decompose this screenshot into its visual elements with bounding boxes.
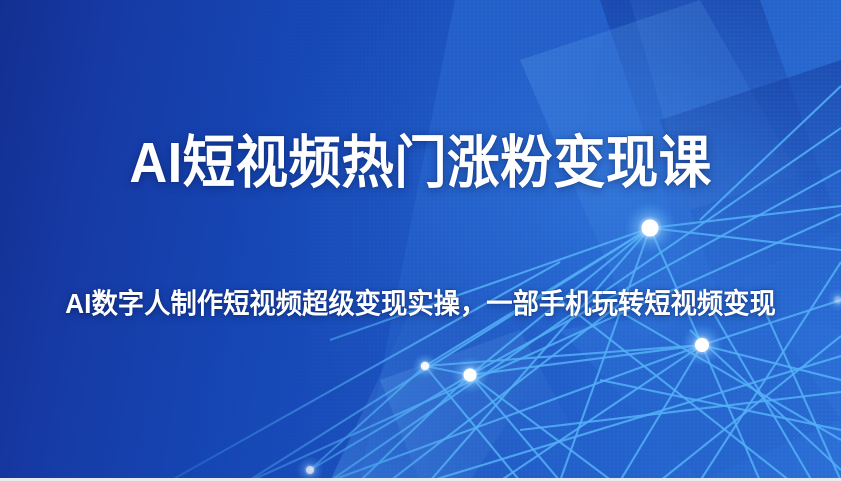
course-banner: AI短视频热门涨粉变现课 AI数字人制作短视频超级变现实操，一部手机玩转短视频变… (0, 0, 841, 481)
page-title: AI短视频热门涨粉变现课 (34, 131, 808, 195)
page-subtitle: AI数字人制作短视频超级变现实操，一部手机玩转短视频变现 (25, 287, 816, 321)
network-nodes-graphic (0, 0, 841, 481)
